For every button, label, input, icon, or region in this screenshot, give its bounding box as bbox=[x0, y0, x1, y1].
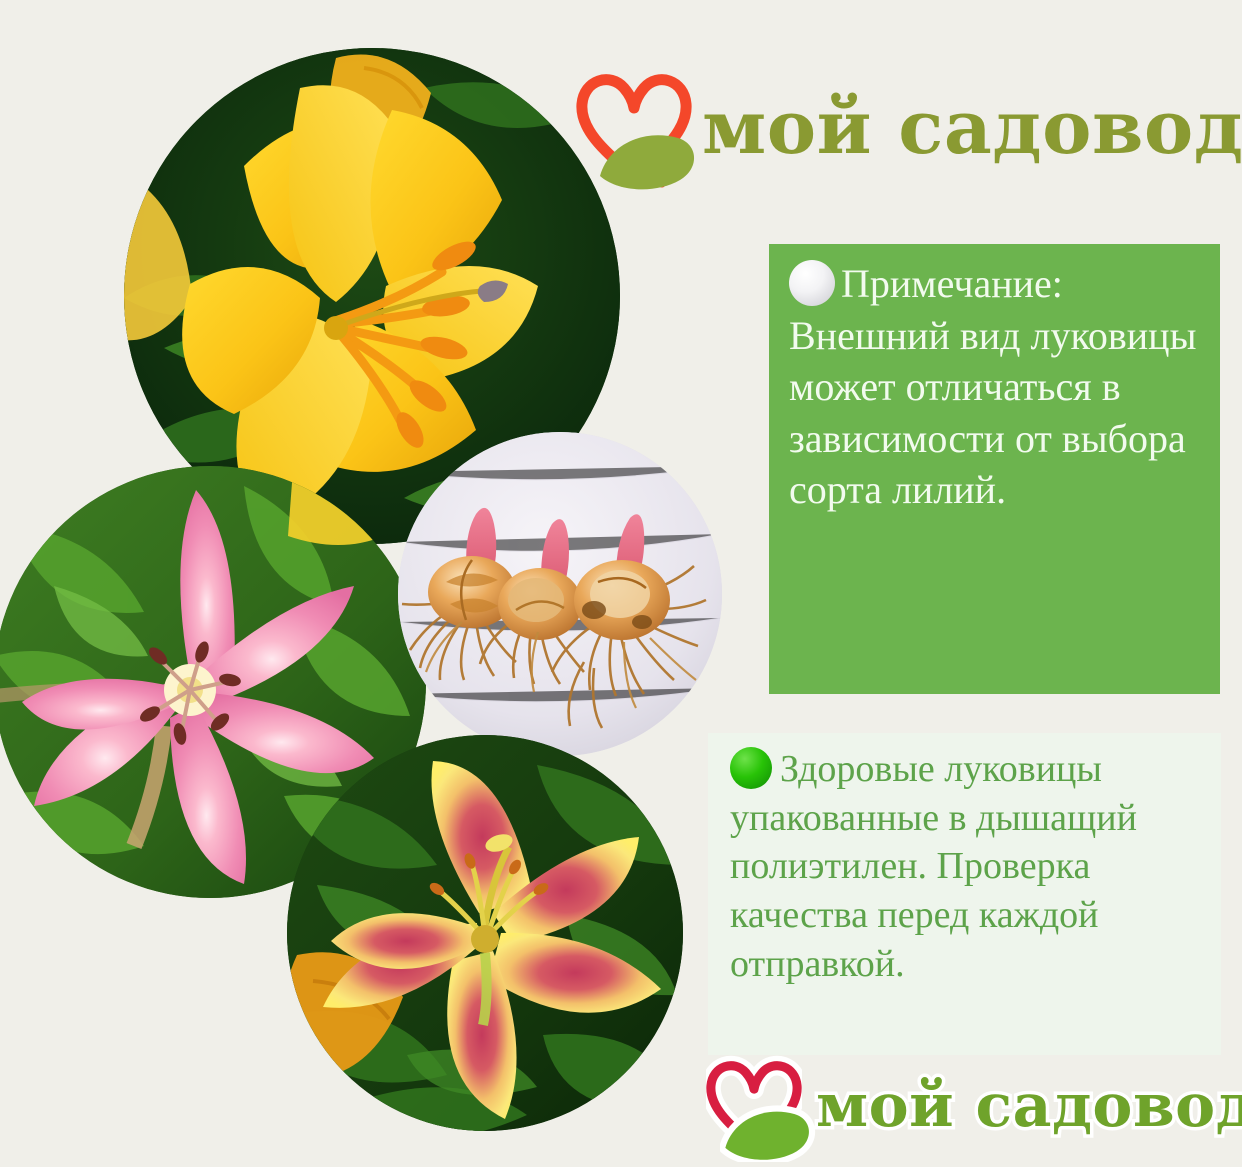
note-heading: Примечание: bbox=[841, 261, 1063, 306]
note-body: Внешний вид луковицы может отличаться в … bbox=[789, 313, 1196, 513]
note-box: Примечание: Внешний вид луковицы может о… bbox=[769, 244, 1220, 694]
photo-lily-bulbs bbox=[398, 432, 722, 756]
leaf-icon bbox=[720, 1100, 816, 1167]
quality-box: Здоровые луковицы упакованные в дышащий … bbox=[708, 733, 1221, 1055]
brand-name-top: мой садовод bbox=[702, 91, 1242, 165]
note-text-block: Примечание: Внешний вид луковицы может о… bbox=[789, 258, 1200, 516]
green-circle-bullet-icon bbox=[730, 747, 772, 789]
white-circle-bullet-icon bbox=[789, 260, 835, 306]
brand-name-bottom: мой садовод bbox=[816, 1076, 1242, 1136]
brand-logo-top: мой садовод bbox=[576, 58, 1224, 198]
photo-bicolor-lily bbox=[287, 735, 683, 1131]
quality-text-block: Здоровые луковицы упакованные в дышащий … bbox=[730, 745, 1203, 988]
brand-logo-bottom: мой садовод bbox=[706, 1048, 1218, 1164]
poster-canvas: мой садовод Примечание: Внешний вид луко… bbox=[0, 0, 1242, 1164]
quality-body: Здоровые луковицы упакованные в дышащий … bbox=[730, 748, 1137, 985]
leaf-icon bbox=[594, 124, 702, 195]
